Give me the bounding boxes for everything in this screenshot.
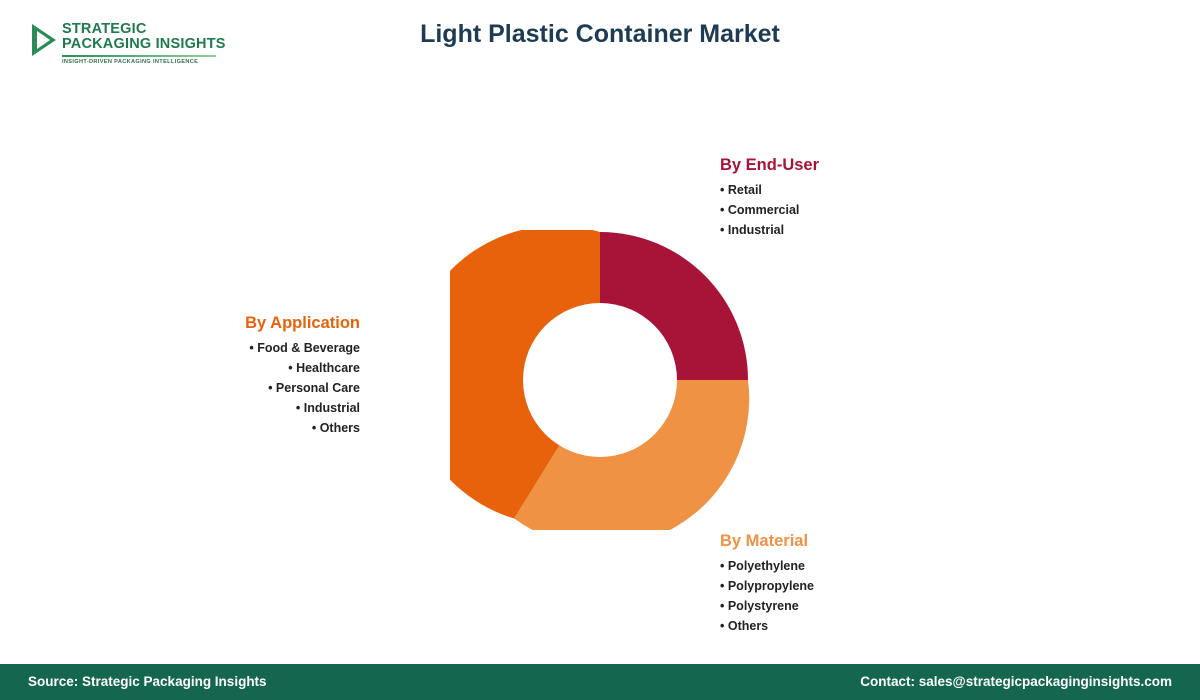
segment-material-title: By Material [720,532,814,551]
segment-end-user-item: • Commercial [720,200,819,220]
footer-bar: Source: Strategic Packaging Insights Con… [0,664,1200,700]
segment-application-item: • Healthcare [180,358,360,378]
segment-end-user-title: By End-User [720,156,819,175]
donut-chart [450,230,750,530]
segment-material-item: • Polystyrene [720,596,814,616]
segment-material-item: • Others [720,616,814,636]
segment-end-user-item: • Industrial [720,220,819,240]
segment-application-title: By Application [180,314,360,333]
segment-material: By Material • Polyethylene • Polypropyle… [720,532,814,636]
page-title: Light Plastic Container Market [0,20,1200,49]
segment-material-item: • Polyethylene [720,556,814,576]
donut-hole [523,303,677,457]
segment-application-item: • Others [180,418,360,438]
segment-material-item: • Polypropylene [720,576,814,596]
logo-divider [62,55,216,57]
footer-source: Source: Strategic Packaging Insights [28,674,267,689]
segment-application-item: • Food & Beverage [180,338,360,358]
segment-application-item: • Personal Care [180,378,360,398]
segment-application: By Application • Food & Beverage • Healt… [180,314,360,438]
segment-application-item: • Industrial [180,398,360,418]
segment-end-user-item: • Retail [720,180,819,200]
logo-tagline: INSIGHT-DRIVEN PACKAGING INTELLIGENCE [62,59,226,65]
footer-contact: Contact: sales@strategicpackaginginsight… [860,674,1172,689]
segment-end-user: By End-User • Retail • Commercial • Indu… [720,156,819,240]
